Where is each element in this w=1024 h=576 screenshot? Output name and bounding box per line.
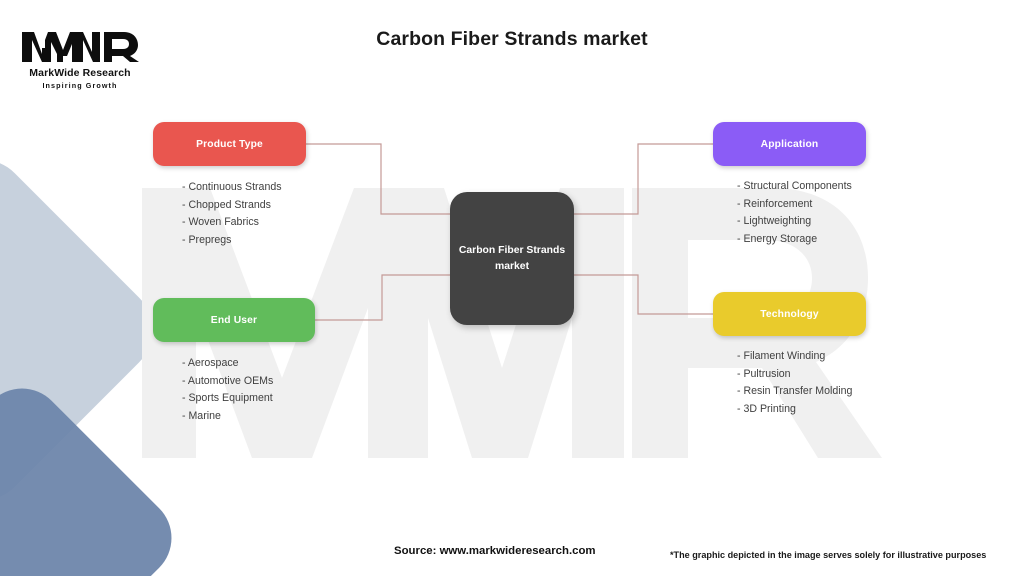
list-item: - Energy Storage	[737, 231, 866, 249]
branch-title-application: Application	[761, 139, 819, 150]
list-item: - Chopped Strands	[182, 197, 306, 215]
branch-end-user: End User - Aerospace - Automotive OEMs -…	[153, 298, 315, 425]
list-item: - Pultrusion	[737, 366, 866, 384]
branch-item-list-product-type: - Continuous Strands - Chopped Strands -…	[153, 179, 306, 249]
list-item: - 3D Printing	[737, 401, 866, 419]
list-item: - Sports Equipment	[182, 390, 315, 408]
list-item: - Aerospace	[182, 355, 315, 373]
list-item: - Woven Fabrics	[182, 214, 306, 232]
disclaimer-note: *The graphic depicted in the image serve…	[670, 550, 986, 560]
center-node-label: Carbon Fiber Strands market	[450, 243, 574, 274]
list-item: - Automotive OEMs	[182, 373, 315, 391]
branch-header-technology[interactable]: Technology	[713, 292, 866, 336]
connector-application	[574, 144, 713, 214]
center-node: Carbon Fiber Strands market	[450, 192, 574, 325]
branch-header-end-user[interactable]: End User	[153, 298, 315, 342]
list-item: - Filament Winding	[737, 348, 866, 366]
branch-item-list-technology: - Filament Winding - Pultrusion - Resin …	[713, 348, 866, 418]
list-item: - Reinforcement	[737, 196, 866, 214]
branch-header-application[interactable]: Application	[713, 122, 866, 166]
list-item: - Resin Transfer Molding	[737, 383, 866, 401]
branch-title-end-user: End User	[211, 315, 257, 326]
list-item: - Prepregs	[182, 232, 306, 250]
list-item: - Lightweighting	[737, 213, 866, 231]
branch-product-type: Product Type - Continuous Strands - Chop…	[153, 122, 306, 249]
branch-technology: Technology - Filament Winding - Pultrusi…	[713, 292, 866, 418]
branch-title-technology: Technology	[760, 309, 819, 320]
branch-item-list-application: - Structural Components - Reinforcement …	[713, 178, 866, 248]
branch-title-product-type: Product Type	[196, 139, 263, 150]
branch-application: Application - Structural Components - Re…	[713, 122, 866, 248]
branch-header-product-type[interactable]: Product Type	[153, 122, 306, 166]
list-item: - Continuous Strands	[182, 179, 306, 197]
connector-product-type	[306, 144, 450, 214]
infographic-canvas: MarkWide Research Inspiring Growth Carbo…	[0, 0, 1024, 576]
list-item: - Structural Components	[737, 178, 866, 196]
branch-item-list-end-user: - Aerospace - Automotive OEMs - Sports E…	[153, 355, 315, 425]
source-label: Source: www.markwideresearch.com	[394, 545, 596, 557]
connector-end-user	[315, 275, 450, 320]
connector-technology	[574, 275, 713, 314]
list-item: - Marine	[182, 408, 315, 426]
